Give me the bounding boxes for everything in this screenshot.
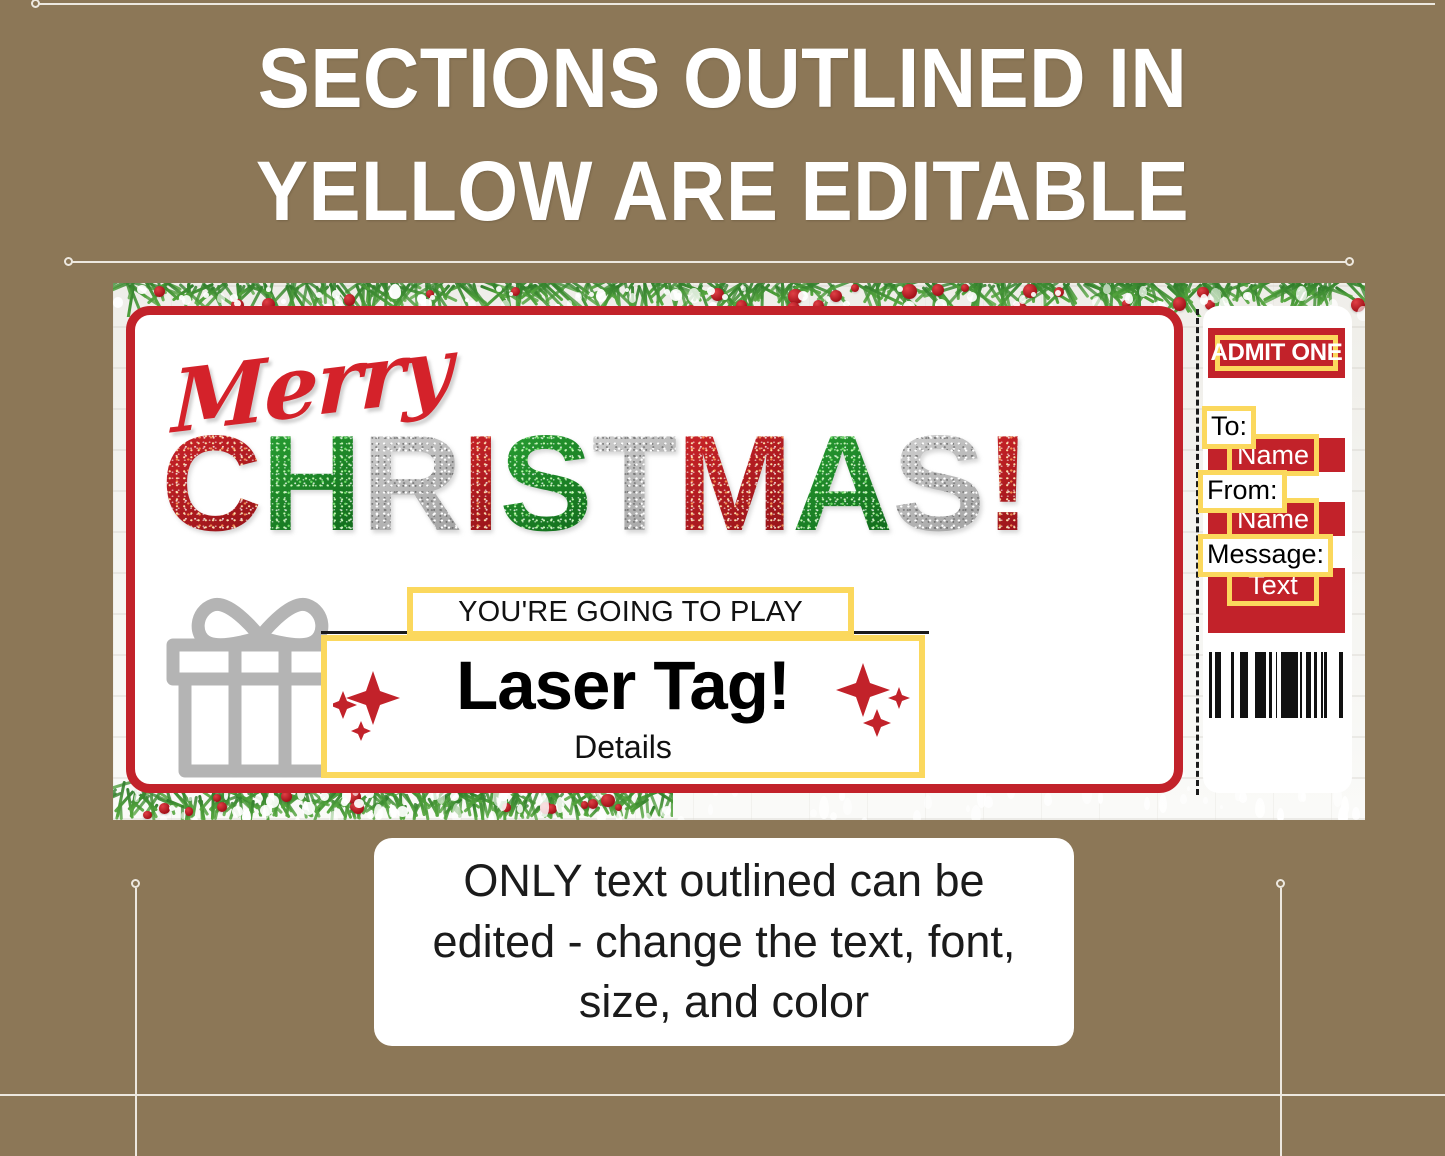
instruction-note-card: ONLY text outlined can be edited - chang…: [374, 838, 1074, 1046]
ticket-main-panel: Merry CHRISTMAS!: [126, 306, 1183, 793]
to-label[interactable]: To:: [1202, 406, 1256, 449]
headline-line-2: YELLOW ARE EDITABLE: [51, 135, 1395, 248]
guide-dot-vertical-left: [131, 879, 140, 888]
guide-dot-middle-left: [64, 257, 73, 266]
guide-line-middle: [68, 261, 1350, 263]
guide-dot-vertical-right: [1276, 879, 1285, 888]
activity-title-text: Laser Tag!: [327, 651, 919, 720]
editable-activity-box[interactable]: Laser Tag! Details: [321, 635, 925, 778]
editable-going-to-box[interactable]: YOU'RE GOING TO PLAY: [407, 587, 854, 637]
admit-one-inner-frame: ADMIT ONE: [1215, 335, 1338, 371]
headline-line-1: SECTIONS OUTLINED IN: [51, 22, 1395, 135]
christmas-glitter-word: CHRISTMAS!: [161, 415, 1030, 551]
from-label[interactable]: From:: [1198, 470, 1287, 513]
instruction-note-text: ONLY text outlined can be edited - chang…: [408, 851, 1040, 1033]
christmas-letter-t: T: [592, 407, 677, 559]
christmas-letter-c: C: [161, 407, 261, 559]
ticket-stub-content: ADMIT ONE To: Name From: Name Message: T…: [1198, 306, 1358, 793]
christmas-letter-h: H: [261, 407, 361, 559]
guide-dot-middle-right: [1345, 257, 1354, 266]
christmas-letter-!: !: [984, 407, 1030, 559]
going-to-play-text: YOU'RE GOING TO PLAY: [458, 596, 803, 629]
page-headline: SECTIONS OUTLINED IN YELLOW ARE EDITABLE: [51, 22, 1395, 247]
christmas-letter-s: S: [892, 407, 984, 559]
christmas-letter-m: M: [676, 407, 792, 559]
guide-line-bottom: [0, 1094, 1445, 1096]
details-label-text: Details: [327, 729, 919, 766]
guide-line-top: [35, 3, 1435, 5]
guide-line-vertical-right: [1280, 888, 1282, 1156]
christmas-letter-r: R: [361, 407, 461, 559]
christmas-letter-s: S: [499, 407, 591, 559]
christmas-letter-a: A: [792, 407, 892, 559]
christmas-letter-i: I: [461, 407, 499, 559]
admit-one-label: ADMIT ONE: [1211, 339, 1343, 367]
message-label[interactable]: Message:: [1198, 534, 1333, 577]
christmas-ticket-graphic: Merry CHRISTMAS!: [113, 283, 1365, 820]
admit-one-badge: ADMIT ONE: [1208, 328, 1345, 378]
guide-dot-top-left: [31, 0, 40, 8]
barcode-icon: [1209, 652, 1344, 718]
divider-line-bottom: [321, 786, 929, 789]
guide-line-vertical-left: [135, 888, 137, 1156]
